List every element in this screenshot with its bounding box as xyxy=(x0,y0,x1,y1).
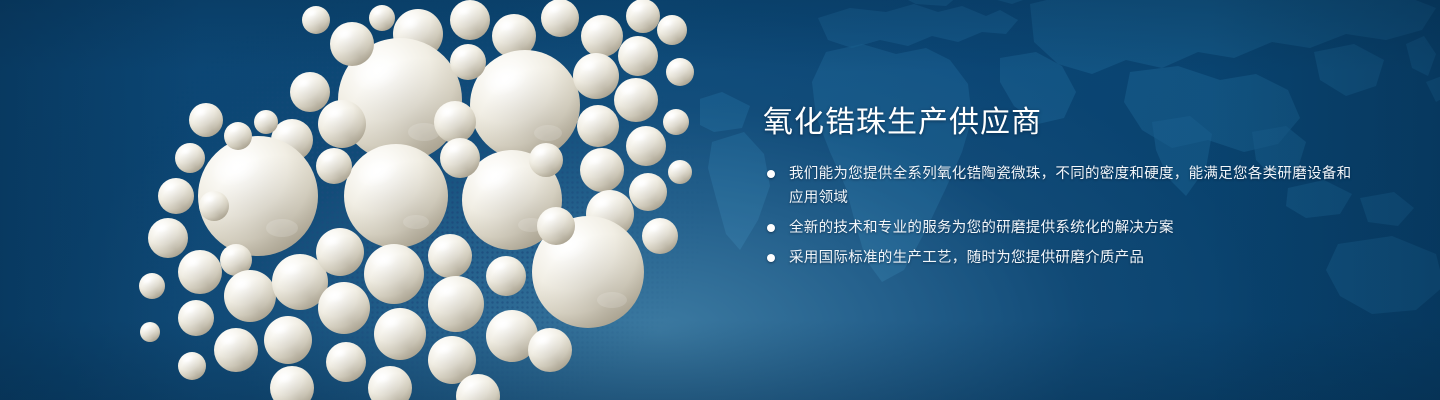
page-title: 氧化锆珠生产供应商 xyxy=(763,106,1363,140)
bullet-dot-icon xyxy=(767,254,775,262)
hero-banner: 氧化锆珠生产供应商 我们能为您提供全系列氧化锆陶瓷微珠，不同的密度和硬度，能满足… xyxy=(0,0,1440,400)
list-item: 我们能为您提供全系列氧化锆陶瓷微珠，不同的密度和硬度，能满足您各类研磨设备和应用… xyxy=(763,162,1363,210)
bullet-dot-icon xyxy=(767,170,775,178)
feature-list: 我们能为您提供全系列氧化锆陶瓷微珠，不同的密度和硬度，能满足您各类研磨设备和应用… xyxy=(763,162,1363,270)
list-item: 采用国际标准的生产工艺，随时为您提供研磨介质产品 xyxy=(763,246,1363,270)
list-item: 全新的技术和专业的服务为您的研磨提供系统化的解决方案 xyxy=(763,216,1363,240)
list-item-label: 全新的技术和专业的服务为您的研磨提供系统化的解决方案 xyxy=(789,220,1174,236)
banner-copy: 氧化锆珠生产供应商 我们能为您提供全系列氧化锆陶瓷微珠，不同的密度和硬度，能满足… xyxy=(763,106,1363,270)
list-item-label: 采用国际标准的生产工艺，随时为您提供研磨介质产品 xyxy=(789,250,1144,266)
bullet-dot-icon xyxy=(767,224,775,232)
list-item-label: 我们能为您提供全系列氧化锆陶瓷微珠，不同的密度和硬度，能满足您各类研磨设备和应用… xyxy=(789,166,1351,206)
